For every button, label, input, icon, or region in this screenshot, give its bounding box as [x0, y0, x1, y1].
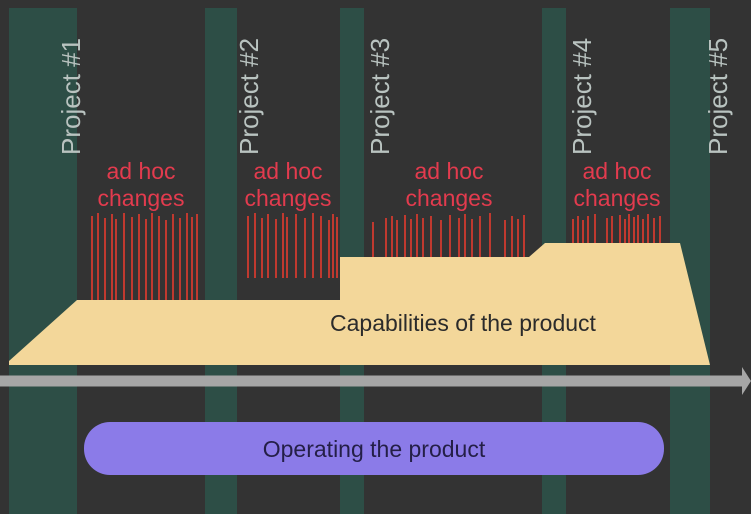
operating-pill[interactable] [84, 422, 664, 475]
project-column-1[interactable] [9, 8, 77, 514]
diagram-canvas: Project #1Project #2Project #3Project #4… [0, 0, 751, 514]
diagram-svg [0, 0, 751, 514]
